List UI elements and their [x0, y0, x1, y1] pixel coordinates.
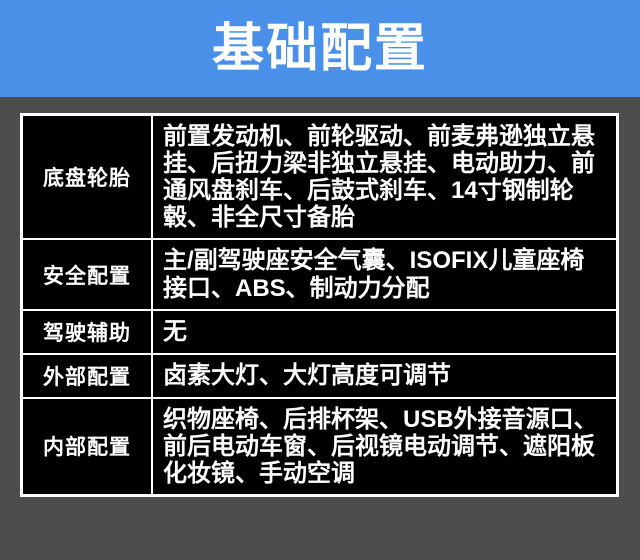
spec-row-value-chassis-tires: 前置发动机、前轮驱动、前麦弗逊独立悬挂、后扭力梁非独立悬挂、电动助力、前通风盘刹…: [152, 115, 618, 240]
spec-row-label-chassis-tires: 底盘轮胎: [22, 115, 153, 240]
spec-row-value-interior: 织物座椅、后排杯架、USB外接音源口、前后电动车窗、后视镜电动调节、遮阳板化妆镜…: [152, 398, 618, 496]
configuration-spec-table: 底盘轮胎 前置发动机、前轮驱动、前麦弗逊独立悬挂、后扭力梁非独立悬挂、电动助力、…: [20, 113, 619, 497]
page-title: 基础配置: [212, 23, 428, 75]
spec-sheet-page: 基础配置 底盘轮胎 前置发动机、前轮驱动、前麦弗逊独立悬挂、后扭力梁非独立悬挂、…: [0, 0, 640, 560]
table-row: 外部配置 卤素大灯、大灯高度可调节: [22, 354, 618, 398]
page-header-banner: 基础配置: [0, 0, 640, 97]
table-row: 内部配置 织物座椅、后排杯架、USB外接音源口、前后电动车窗、后视镜电动调节、遮…: [22, 398, 618, 496]
table-row: 驾驶辅助 无: [22, 310, 618, 354]
spec-row-label-driver-assist: 驾驶辅助: [22, 310, 153, 354]
table-row: 安全配置 主/副驾驶座安全气囊、ISOFIX儿童座椅接口、ABS、制动力分配: [22, 239, 618, 309]
spec-row-value-driver-assist: 无: [152, 310, 618, 354]
spec-table-body: 底盘轮胎 前置发动机、前轮驱动、前麦弗逊独立悬挂、后扭力梁非独立悬挂、电动助力、…: [22, 115, 618, 496]
spec-row-value-safety: 主/副驾驶座安全气囊、ISOFIX儿童座椅接口、ABS、制动力分配: [152, 239, 618, 309]
spec-row-label-exterior: 外部配置: [22, 354, 153, 398]
table-row: 底盘轮胎 前置发动机、前轮驱动、前麦弗逊独立悬挂、后扭力梁非独立悬挂、电动助力、…: [22, 115, 618, 240]
spec-row-label-interior: 内部配置: [22, 398, 153, 496]
spec-table-container: 底盘轮胎 前置发动机、前轮驱动、前麦弗逊独立悬挂、后扭力梁非独立悬挂、电动助力、…: [0, 97, 640, 515]
spec-row-value-exterior: 卤素大灯、大灯高度可调节: [152, 354, 618, 398]
spec-row-label-safety: 安全配置: [22, 239, 153, 309]
